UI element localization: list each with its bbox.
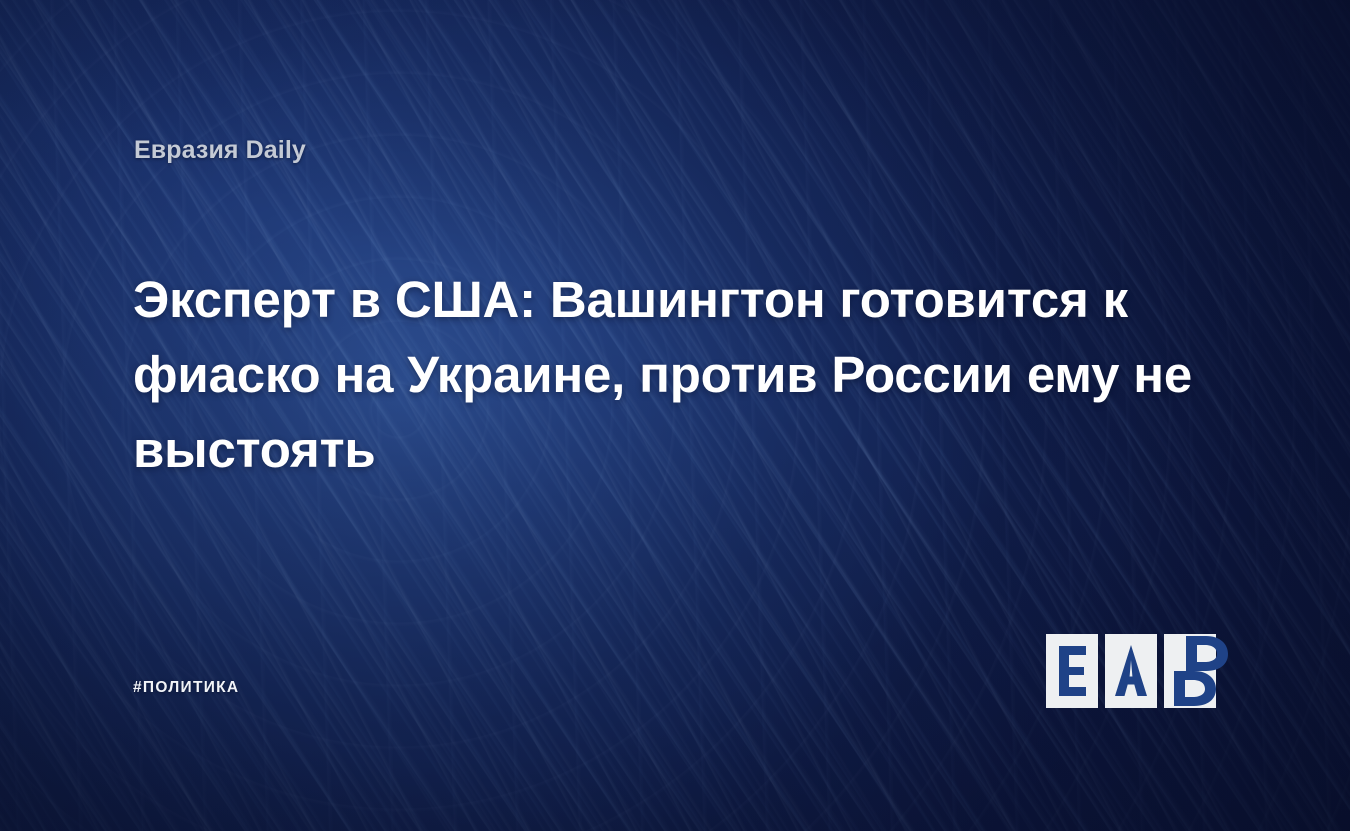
logo-tile-e: [1046, 634, 1098, 708]
site-name: Евразия Daily: [134, 136, 306, 165]
logo-letter-d: [1164, 634, 1268, 708]
cover-content: Евразия Daily Эксперт в США: Вашингтон г…: [0, 0, 1350, 831]
page-title: Эксперт в США: Вашингтон готовится к фиа…: [133, 262, 1243, 487]
logo-tile-a: [1105, 634, 1157, 708]
category-tag: #ПОЛИТИКА: [133, 679, 239, 697]
ead-logo: [1046, 634, 1226, 708]
article-cover-card: Евразия Daily Эксперт в США: Вашингтон г…: [0, 0, 1350, 831]
